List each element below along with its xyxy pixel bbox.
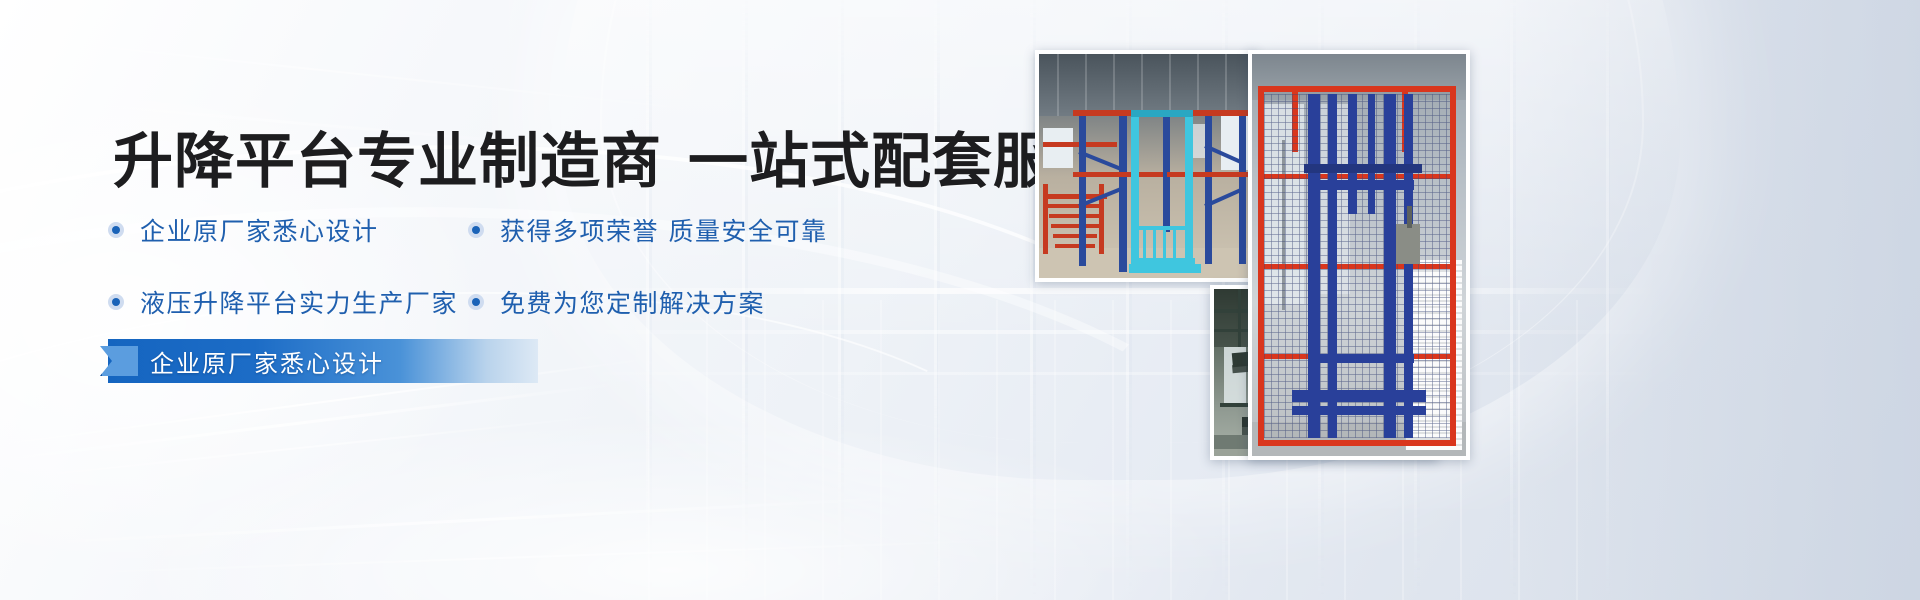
photo-collage xyxy=(0,0,1920,600)
photo-rack-lift-image xyxy=(1039,54,1253,278)
photo-guide-rail-lift-image xyxy=(1252,54,1466,456)
promo-banner: 升降平台专业制造商一站式配套服务 企业原厂家悉心设计 获得多项荣誉 质量安全可靠… xyxy=(0,0,1920,600)
photo-guide-rail-lift xyxy=(1248,50,1470,460)
photo-rack-lift xyxy=(1035,50,1257,282)
